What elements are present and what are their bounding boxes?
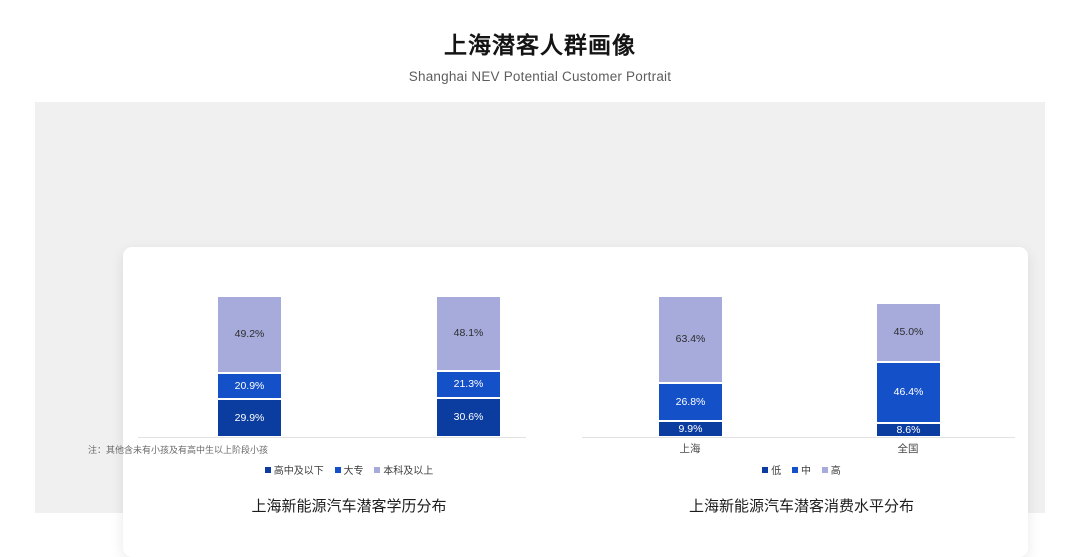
x-axis-line (138, 437, 526, 438)
bar-segment: 63.4% (658, 296, 723, 383)
footnote: 注：其他含未有小孩及有高中生以上阶段小孩 (88, 443, 268, 456)
legend-label: 中 (801, 466, 811, 477)
legend-education: 高中及以下 大专 本科及以上 (123, 462, 575, 477)
charts-card: 49.2% 20.9% 29.9% 48.1% 21.3% 30.6% 高中及以… (123, 247, 1028, 557)
chart-caption: 上海新能源汽车潜客消费水平分布 (575, 495, 1028, 516)
bar-segment: 9.9% (658, 421, 723, 437)
page-title: 上海潜客人群画像 (0, 0, 1080, 60)
bar-segment: 46.4% (876, 362, 941, 423)
legend-item[interactable]: 大专 (335, 462, 364, 477)
bar-segment: 48.1% (436, 296, 501, 371)
legend-swatch-icon (265, 467, 271, 473)
bar-segment: 29.9% (217, 399, 282, 437)
legend-item[interactable]: 高中及以下 (265, 462, 324, 477)
page-subtitle: Shanghai NEV Potential Customer Portrait (0, 60, 1080, 84)
chart-education: 49.2% 20.9% 29.9% 48.1% 21.3% 30.6% 高中及以… (123, 247, 575, 557)
legend-item[interactable]: 中 (792, 462, 811, 477)
legend-label: 高 (831, 466, 841, 477)
bar-column[interactable]: 63.4% 26.8% 9.9% (658, 296, 723, 437)
chart-caption: 上海新能源汽车潜客学历分布 (123, 495, 575, 516)
x-tick-label: 上海 (645, 441, 735, 456)
bar-segment: 45.0% (876, 303, 941, 362)
x-axis-ticks: 上海 全国 (575, 441, 1028, 457)
legend-label: 低 (771, 466, 781, 477)
legend-swatch-icon (762, 467, 768, 473)
x-tick-label: 全国 (863, 441, 953, 456)
legend-swatch-icon (792, 467, 798, 473)
plot-area-education: 49.2% 20.9% 29.9% 48.1% 21.3% 30.6% (123, 247, 575, 437)
bar-column[interactable]: 48.1% 21.3% 30.6% (436, 296, 501, 437)
bar-segment: 8.6% (876, 423, 941, 437)
bar-column[interactable]: 45.0% 46.4% 8.6% (876, 303, 941, 437)
legend-swatch-icon (335, 467, 341, 473)
legend-swatch-icon (822, 467, 828, 473)
legend-label: 大专 (344, 466, 364, 477)
chart-consumption: 63.4% 26.8% 9.9% 45.0% 46.4% 8.6% 上海 全国 … (575, 247, 1028, 557)
legend-consumption: 低 中 高 (575, 462, 1028, 477)
bar-segment: 21.3% (436, 371, 501, 398)
legend-item[interactable]: 本科及以上 (374, 462, 433, 477)
page-header: 上海潜客人群画像 Shanghai NEV Potential Customer… (0, 0, 1080, 84)
bar-segment: 20.9% (217, 373, 282, 399)
legend-label: 本科及以上 (383, 466, 433, 477)
plot-area-consumption: 63.4% 26.8% 9.9% 45.0% 46.4% 8.6% (575, 247, 1028, 437)
bar-segment: 49.2% (217, 296, 282, 373)
bar-segment: 26.8% (658, 383, 723, 421)
legend-item[interactable]: 低 (762, 462, 781, 477)
x-axis-line (582, 437, 1015, 438)
legend-label: 高中及以下 (274, 466, 324, 477)
bar-segment: 30.6% (436, 398, 501, 437)
bar-column[interactable]: 49.2% 20.9% 29.9% (217, 296, 282, 437)
legend-swatch-icon (374, 467, 380, 473)
legend-item[interactable]: 高 (822, 462, 841, 477)
